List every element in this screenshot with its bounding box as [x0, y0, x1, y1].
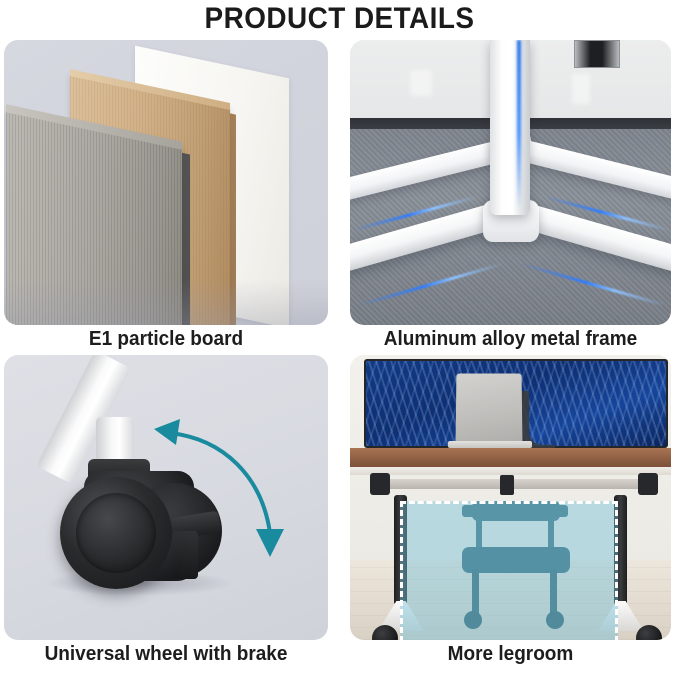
- legroom-clamp-center: [500, 475, 514, 495]
- universal-wheel-image: [4, 355, 328, 640]
- caption-particle-board: E1 particle board: [12, 328, 320, 351]
- detail-card-metal-frame: Aluminum alloy metal frame: [350, 40, 671, 325]
- detail-card-particle-board: E1 particle board: [4, 40, 328, 325]
- legroom-laptop: [456, 374, 523, 444]
- detail-card-more-legroom: More legroom: [350, 355, 671, 640]
- legroom-clamp-right: [638, 473, 658, 495]
- legroom-desktop-edge: [350, 467, 671, 475]
- more-legroom-image: [350, 355, 671, 640]
- product-details-page: PRODUCT DETAILS E1 particle board: [0, 0, 679, 673]
- frame-wall-reflection-left: [410, 70, 432, 96]
- caption-metal-frame: Aluminum alloy metal frame: [358, 328, 663, 351]
- legroom-laptop-base: [448, 441, 532, 448]
- page-title: PRODUCT DETAILS: [24, 0, 655, 38]
- curved-double-arrow-icon: [144, 405, 304, 565]
- legroom-rail: [372, 479, 656, 489]
- frame-center-post: [490, 40, 530, 215]
- frame-post-glow: [517, 40, 521, 210]
- caption-more-legroom: More legroom: [358, 643, 663, 666]
- detail-grid: E1 particle board: [0, 40, 679, 673]
- particle-board-image: [4, 40, 328, 325]
- legroom-desktop-surface: [350, 448, 671, 468]
- metal-frame-image: [350, 40, 671, 325]
- detail-card-universal-wheel: Universal wheel with brake: [4, 355, 328, 640]
- legroom-clamp-left: [370, 473, 390, 495]
- legroom-highlight-zone: [400, 501, 618, 640]
- frame-wall-reflection-right: [572, 74, 590, 104]
- boards-shadow: [4, 279, 328, 325]
- frame-bracket-icon: [574, 40, 620, 68]
- caption-universal-wheel: Universal wheel with brake: [12, 643, 320, 666]
